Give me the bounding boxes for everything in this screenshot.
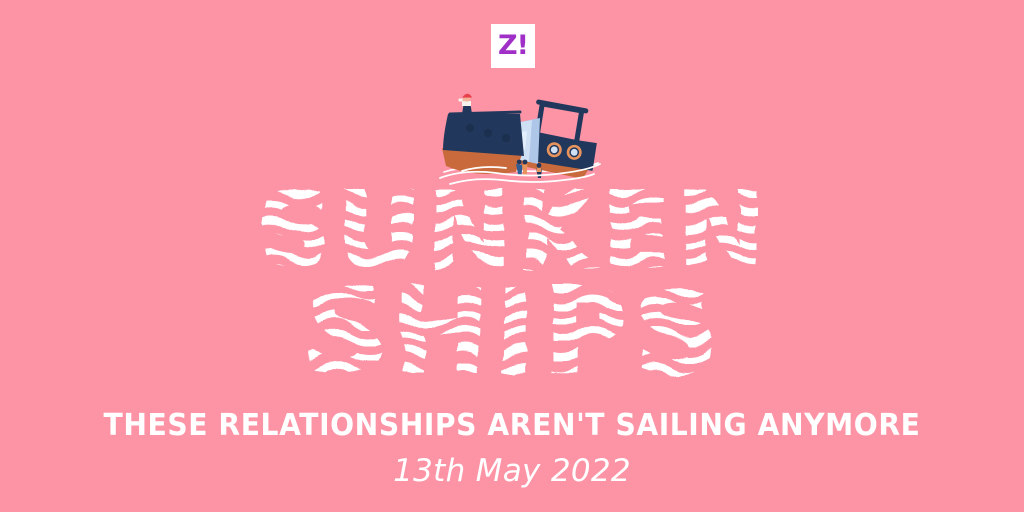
swimmer-1-partner — [522, 164, 527, 176]
swimmer-2-head — [537, 163, 542, 168]
wordmark-line-2-wrap: SHIPS — [0, 276, 1024, 386]
wordmark-line-1-wrap: SUNKEN — [0, 182, 1024, 282]
sailor-shirt — [462, 101, 471, 106]
brand-logo-badge[interactable]: Z! — [491, 24, 535, 68]
sailor-figure — [459, 94, 473, 114]
sailor-arm — [463, 99, 466, 101]
event-date: 13th May 2022 — [0, 452, 1024, 490]
swimmer-1-body — [516, 164, 523, 176]
wordmark-ships-text: SHIPS — [302, 276, 721, 396]
brand-logo-text: Z! — [498, 32, 528, 59]
ship-bow-section — [442, 112, 524, 174]
bow-porthole-2 — [484, 129, 492, 137]
sinking-ship-illustration — [428, 88, 612, 192]
bow-porthole-1 — [466, 124, 474, 132]
bow-porthole-3 — [502, 134, 510, 142]
wordmark-ships-svg: SHIPS — [0, 276, 1024, 396]
sailor-hat — [463, 94, 472, 98]
swimmer-1-partner-head — [523, 160, 528, 165]
bow-deck-rail — [450, 112, 520, 114]
swimmer-1-head — [517, 160, 522, 165]
subtitle-tagline: THESE RELATIONSHIPS AREN'T SAILING ANYMO… — [31, 409, 994, 443]
poster-canvas: Z! — [0, 0, 1024, 512]
bow-hull — [443, 114, 524, 156]
swimmer-2-vest — [536, 168, 541, 172]
